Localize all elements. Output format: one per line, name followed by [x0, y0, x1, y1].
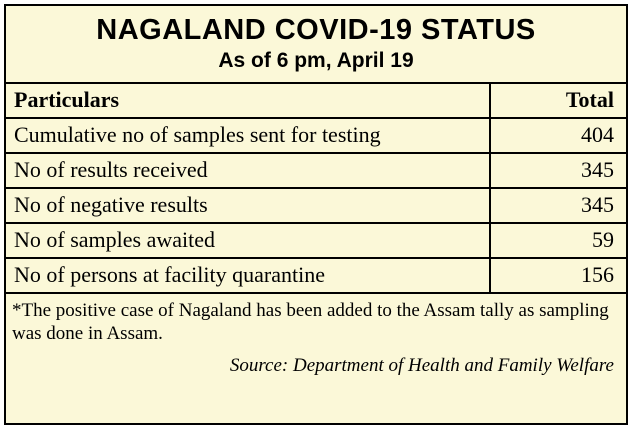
status-card: NAGALAND COVID-19 STATUS As of 6 pm, Apr…: [4, 4, 628, 425]
covid-status-table: Particulars Total Cumulative no of sampl…: [6, 84, 626, 294]
table-body: Cumulative no of samples sent for testin…: [6, 118, 626, 293]
row-label: Cumulative no of samples sent for testin…: [6, 118, 490, 153]
row-value: 156: [490, 258, 626, 293]
table-row: No of samples awaited 59: [6, 223, 626, 258]
row-label: No of negative results: [6, 188, 490, 223]
source-credit: Source: Department of Health and Family …: [12, 355, 618, 377]
row-value: 59: [490, 223, 626, 258]
table-row: No of negative results 345: [6, 188, 626, 223]
column-header-total: Total: [490, 84, 626, 118]
card-header: NAGALAND COVID-19 STATUS As of 6 pm, Apr…: [6, 6, 626, 84]
table-row: No of persons at facility quarantine 156: [6, 258, 626, 293]
card-footer: *The positive case of Nagaland has been …: [6, 294, 626, 423]
footnote-text: *The positive case of Nagaland has been …: [12, 299, 618, 345]
table-row: No of results received 345: [6, 153, 626, 188]
table-header: Particulars Total: [6, 84, 626, 118]
page-subtitle: As of 6 pm, April 19: [6, 48, 626, 73]
row-value: 404: [490, 118, 626, 153]
row-label: No of results received: [6, 153, 490, 188]
row-label: No of persons at facility quarantine: [6, 258, 490, 293]
table-row: Cumulative no of samples sent for testin…: [6, 118, 626, 153]
row-value: 345: [490, 188, 626, 223]
row-value: 345: [490, 153, 626, 188]
row-label: No of samples awaited: [6, 223, 490, 258]
column-header-particulars: Particulars: [6, 84, 490, 118]
page-title: NAGALAND COVID-19 STATUS: [6, 14, 626, 46]
table-header-row: Particulars Total: [6, 84, 626, 118]
